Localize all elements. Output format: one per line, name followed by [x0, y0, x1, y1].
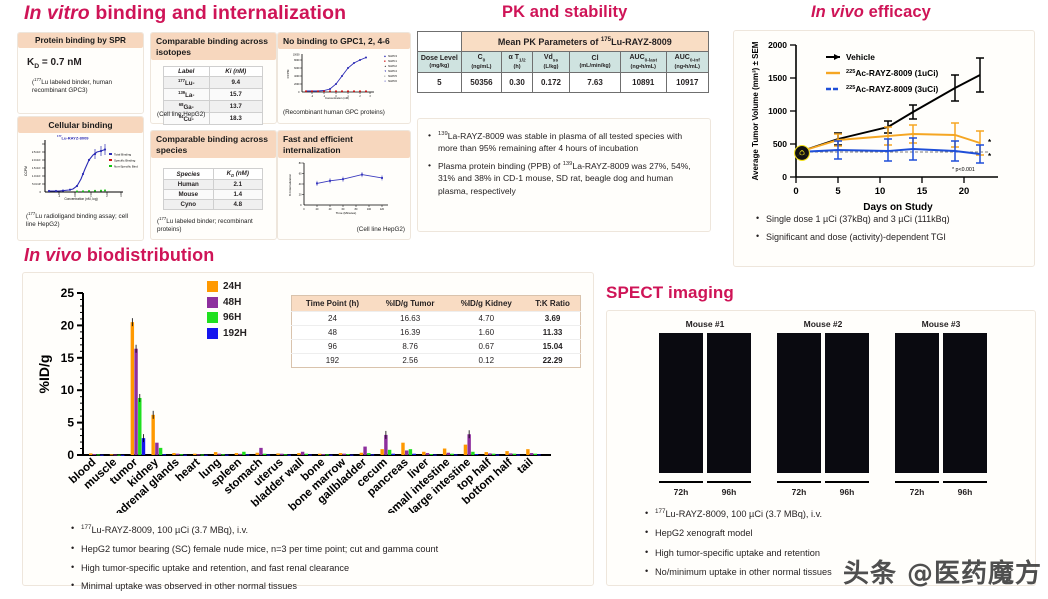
- internalization-chart: % Internalization Time (Minutes) 02040 6…: [284, 159, 404, 221]
- section-title-biodistribution: In vivo biodistribution: [24, 245, 214, 266]
- isotope-ki: 9.4: [209, 77, 262, 89]
- table-row: 4816.391.6011.33: [292, 326, 581, 340]
- pk-table: Mean PK Parameters of 175Lu-RAYZ-8009 Do…: [417, 31, 709, 93]
- list-item: High tumor-specific uptake and retention…: [81, 562, 601, 576]
- gpc-caption: (Recombinant human GPC proteins): [283, 109, 385, 117]
- spect-mouse-3-label: Mouse #3: [891, 319, 991, 329]
- list-item: HepG2 tumor bearing (SC) female nude mic…: [81, 543, 601, 557]
- pk-data-row: 5 50356 0.30 0.172 7.63 10891 10917: [418, 73, 709, 93]
- biodist-cell: 48: [292, 326, 373, 340]
- pk-col-vdss: Vdss(L/kg): [532, 52, 569, 73]
- svg-text:20: 20: [299, 194, 302, 197]
- svg-text:heart: heart: [174, 456, 203, 484]
- spect-time-m2-96h: 96h: [825, 487, 869, 497]
- cellular-binding-heading: Cellular binding: [18, 117, 143, 133]
- spect-rule-m3-96h: [943, 481, 987, 483]
- svg-text:0: 0: [40, 190, 42, 194]
- svg-text:20: 20: [61, 318, 75, 332]
- svg-text:CCPM: CCPM: [286, 69, 290, 78]
- spect-mouse-1-label: Mouse #1: [655, 319, 755, 329]
- svg-text:20: 20: [959, 186, 970, 197]
- spect-time-m3-72h: 72h: [895, 487, 939, 497]
- svg-text:10000: 10000: [293, 54, 300, 57]
- biodist-cell: 2.56: [373, 354, 447, 368]
- svg-text:■: ■: [384, 60, 386, 63]
- svg-text:Average Tumor Volume (mm³) ± S: Average Tumor Volume (mm³) ± SEM: [751, 41, 760, 180]
- pk-col-auclast: AUC0-last(ng•h/mL): [620, 52, 666, 73]
- svg-text:8000: 8000: [294, 59, 300, 62]
- svg-text:0: 0: [300, 204, 302, 207]
- biodist-cell: 8.76: [373, 340, 447, 354]
- watermark: 头条 @医药魔方: [843, 553, 1042, 590]
- biodist-table: Time Point (h) %ID/g Tumor %ID/g Kidney …: [291, 295, 581, 368]
- svg-text:6000: 6000: [294, 67, 300, 70]
- panel-isotopes: Comparable binding across isotopes Label…: [150, 32, 277, 124]
- isotopes-col-ki: Ki (nM): [209, 67, 262, 77]
- svg-text:15: 15: [917, 186, 928, 197]
- spect-rule-m3-72h: [895, 481, 939, 483]
- pk-val-cl: 7.63: [570, 73, 621, 93]
- svg-text:1500: 1500: [768, 73, 787, 83]
- panel-spect: Mouse #1 72h 96h Mouse #2 72h 96h Mouse …: [606, 310, 1036, 586]
- svg-text:1000: 1000: [768, 106, 787, 116]
- svg-text:% Internalization: % Internalization: [288, 174, 292, 197]
- biodist-cell: 11.33: [525, 326, 580, 340]
- svg-text:100: 100: [367, 208, 372, 211]
- svg-text:3: 3: [369, 95, 371, 98]
- section-title-pk: PK and stability: [502, 3, 627, 22]
- svg-text:225Ac-RAYZ-8009 (1uCi): 225Ac-RAYZ-8009 (1uCi): [846, 68, 939, 78]
- biodist-cell: 16.63: [373, 312, 447, 326]
- spect-rule-m2-96h: [825, 481, 869, 483]
- svg-text:Concentration (nM): Concentration (nM): [325, 96, 349, 100]
- section-title-in-vivo-efficacy: In vivo efficacy: [811, 3, 931, 22]
- biodist-cell: 1.60: [447, 326, 525, 340]
- svg-text:5: 5: [67, 416, 74, 430]
- svg-text:hGPC1: hGPC1: [388, 59, 397, 63]
- svg-text:1: 1: [347, 95, 349, 98]
- section-title-efficacy-rest: efficacy: [864, 3, 931, 21]
- biodist-col-kidney: %ID/g Kidney: [447, 296, 525, 312]
- svg-text:1.5×10⁴: 1.5×10⁴: [32, 166, 41, 170]
- section-title-efficacy-italic: In vivo: [811, 3, 864, 21]
- panel-biodistribution: 24H 48H 96H 192H 0510152025%ID/gbloodmus…: [22, 272, 594, 586]
- svg-text:*: *: [988, 138, 992, 147]
- pk-col-c0: C0(ng/mL): [461, 52, 502, 73]
- list-item: Minimal uptake was observed in other nor…: [81, 580, 601, 594]
- biodist-col-tk: T:K Ratio: [525, 296, 580, 312]
- section-title-in-vitro-italic: In vitro: [24, 2, 90, 24]
- species-name: Cyno: [164, 200, 214, 210]
- spect-mouse-2-label: Mouse #2: [773, 319, 873, 329]
- section-title-in-vitro: In vitro binding and internalization: [24, 2, 346, 25]
- biodist-cell: 22.29: [525, 354, 580, 368]
- svg-text:2: 2: [106, 194, 108, 198]
- svg-text:2000: 2000: [768, 40, 787, 50]
- spect-image-m3-72h: [895, 333, 939, 473]
- svg-text:●: ●: [384, 75, 386, 78]
- svg-text:Vehicle: Vehicle: [846, 52, 875, 62]
- table-row: Cyno4.8: [164, 200, 263, 210]
- svg-text:0: 0: [782, 172, 787, 182]
- svg-text:5: 5: [835, 186, 841, 197]
- poster-root: In vitro binding and internalization Pro…: [0, 0, 1048, 596]
- svg-text:0: 0: [298, 91, 300, 94]
- internalization-heading: Fast and efficient internalization: [278, 131, 410, 158]
- panel-internalization: Fast and efficient internalization: [277, 130, 411, 240]
- svg-text:◆: ◆: [384, 55, 387, 58]
- table-row: 177Lu-9.4: [164, 77, 263, 89]
- spr-caption: (177Lu labeled binder, human recombinant…: [32, 77, 137, 95]
- isotope-ki: 18.3: [209, 113, 262, 125]
- svg-text:Concentration (nM, log): Concentration (nM, log): [64, 197, 97, 201]
- spect-time-m3-96h: 96h: [943, 487, 987, 497]
- efficacy-chart: 05001000 15002000 0510 1520 Days on Stud…: [740, 35, 1028, 213]
- list-item: 177Lu-RAYZ-8009, 100 µCi (3.7 MBq), i.v.: [81, 523, 601, 538]
- pk-title: Mean PK Parameters of 175Lu-RAYZ-8009: [461, 32, 708, 52]
- svg-text:CCPM: CCPM: [24, 166, 28, 176]
- gpc-heading: No binding to GPC1, 2, 4-6: [278, 33, 410, 49]
- panel-pk-bullets: 139La-RAYZ-8009 was stable in plasma of …: [417, 118, 711, 232]
- svg-text:-2: -2: [311, 95, 314, 98]
- svg-text:2: 2: [359, 95, 361, 98]
- spr-kd-value: KD = 0.7 nM: [27, 57, 82, 70]
- table-row: 139La-15.7: [164, 89, 263, 101]
- svg-text:1.0×10⁴: 1.0×10⁴: [32, 174, 41, 178]
- svg-text:*: *: [988, 152, 992, 161]
- spect-image-m1-96h: [707, 333, 751, 473]
- svg-text:hGPC2: hGPC2: [388, 64, 397, 68]
- svg-text:10: 10: [875, 186, 886, 197]
- section-title-in-vitro-rest: binding and internalization: [90, 2, 346, 24]
- svg-text:25: 25: [61, 286, 75, 300]
- biodist-cell: 3.69: [525, 312, 580, 326]
- svg-text:hGPC3: hGPC3: [388, 54, 397, 58]
- panel-protein-binding-spr: Protein binding by SPR KD = 0.7 nM (177L…: [17, 32, 144, 114]
- spect-rule-m2-72h: [777, 481, 821, 483]
- pk-val-thalf: 0.30: [502, 73, 533, 93]
- cellular-binding-svg: CCPM Concentration (nM, log) 05.0×10³1.0…: [23, 135, 138, 207]
- internalization-caption: (Cell line HepG2): [357, 226, 405, 234]
- svg-text:hGPC5: hGPC5: [388, 74, 397, 78]
- gpc-chart-svg: CCPM Concentration (nM) 020004000 600080…: [282, 50, 406, 105]
- svg-text:▼: ▼: [384, 70, 387, 73]
- efficacy-legend: Vehicle 225Ac-RAYZ-8009 (1uCi) 225Ac-RAY…: [826, 52, 939, 94]
- svg-text:3: 3: [120, 194, 122, 198]
- species-table: Species KD (nM) Human2.1 Mouse1.4 Cyno4.…: [163, 168, 263, 210]
- internalization-chart-svg: % Internalization Time (Minutes) 02040 6…: [284, 159, 404, 221]
- svg-text:5.0×10³: 5.0×10³: [32, 182, 41, 186]
- panel-gpc-selectivity: No binding to GPC1, 2, 4-6: [277, 32, 411, 124]
- table-row: Human2.1: [164, 180, 263, 190]
- svg-text:2000: 2000: [294, 83, 300, 86]
- spr-heading: Protein binding by SPR: [18, 33, 143, 48]
- pk-val-c0: 50356: [461, 73, 502, 93]
- spect-image-m2-96h: [825, 333, 869, 473]
- svg-text:✦: ✦: [384, 79, 387, 83]
- gpc-chart: CCPM Concentration (nM) 020004000 600080…: [282, 50, 406, 105]
- svg-text:▲: ▲: [384, 65, 387, 68]
- section-title-biodist-rest: biodistribution: [82, 245, 215, 265]
- spect-image-m3-96h: [943, 333, 987, 473]
- table-row: 1922.560.1222.29: [292, 354, 581, 368]
- biodist-cell: 24: [292, 312, 373, 326]
- species-col-species: Species: [164, 169, 214, 180]
- spect-rule-m1-96h: [707, 481, 751, 483]
- isotope-ki: 13.7: [209, 101, 262, 113]
- biodist-cell: 192: [292, 354, 373, 368]
- svg-text:hGPC4: hGPC4: [388, 69, 397, 73]
- svg-text:0: 0: [303, 208, 305, 211]
- spect-image-m1-72h: [659, 333, 703, 473]
- svg-text:Specific Binding: Specific Binding: [114, 159, 136, 163]
- section-title-spect: SPECT imaging: [606, 283, 734, 303]
- isotopes-heading: Comparable binding across isotopes: [151, 33, 276, 60]
- pk-val-aucinf: 10917: [666, 73, 708, 93]
- svg-text:15: 15: [61, 351, 75, 365]
- pk-col-dose: Dose Level(mg/kg): [418, 52, 462, 73]
- biodist-cell: 16.39: [373, 326, 447, 340]
- isotopes-caption: (Cell line HepG2): [157, 111, 205, 119]
- section-title-biodist-italic: In vivo: [24, 245, 82, 265]
- panel-species: Comparable binding across species Specie…: [150, 130, 277, 240]
- spect-time-m1-96h: 96h: [707, 487, 751, 497]
- svg-text:-1: -1: [58, 194, 61, 198]
- svg-text:Days on Study: Days on Study: [863, 202, 933, 213]
- biodist-cell: 0.12: [447, 354, 525, 368]
- species-name: Mouse: [164, 190, 214, 200]
- biodist-col-time: Time Point (h): [292, 296, 373, 312]
- spect-time-m2-72h: 72h: [777, 487, 821, 497]
- pk-val-auclast: 10891: [620, 73, 666, 93]
- cellular-binding-caption: (177Lu radioligand binding assay; cell l…: [26, 211, 138, 229]
- table-row: 2416.634.703.69: [292, 312, 581, 326]
- list-item: Significant and dose (activity)-dependen…: [766, 231, 1044, 244]
- svg-text:20: 20: [316, 208, 319, 211]
- efficacy-chart-svg: 05001000 15002000 0510 1520 Days on Stud…: [740, 35, 1028, 213]
- svg-text:80: 80: [299, 162, 302, 165]
- species-caption: (177Lu labeled binder; recombinant prote…: [157, 216, 272, 234]
- svg-text:40: 40: [329, 208, 332, 211]
- spect-time-m1-72h: 72h: [659, 487, 703, 497]
- cellular-binding-chart: 177Lu-RAYZ-8009: [23, 135, 138, 207]
- svg-text:2.0×10⁴: 2.0×10⁴: [32, 158, 41, 162]
- isotope-label: 177Lu-: [164, 77, 210, 89]
- panel-efficacy: 05001000 15002000 0510 1520 Days on Stud…: [733, 30, 1035, 267]
- species-name: Human: [164, 180, 214, 190]
- svg-text:* p<0.001: * p<0.001: [952, 167, 975, 173]
- panel-cellular-binding: Cellular binding 177Lu-RAYZ-8009: [17, 116, 144, 241]
- pk-val-dose: 5: [418, 73, 462, 93]
- spect-rule-m1-72h: [659, 481, 703, 483]
- svg-text:60: 60: [299, 173, 302, 176]
- svg-text:2.5×10⁴: 2.5×10⁴: [32, 150, 41, 154]
- species-kd: 4.8: [213, 200, 263, 210]
- svg-text:hGPC6: hGPC6: [388, 79, 397, 83]
- list-item: HepG2 xenograft model: [655, 526, 1035, 540]
- biodist-cell: 0.67: [447, 340, 525, 354]
- pk-bullet-list: 139La-RAYZ-8009 was stable in plasma of …: [418, 130, 710, 197]
- table-row: Mouse1.4: [164, 190, 263, 200]
- list-item: 177Lu-RAYZ-8009, 100 µCi (3.7 MBq), i.v.: [655, 507, 1035, 521]
- pk-corner-cell: [418, 32, 462, 52]
- pk-val-vdss: 0.172: [532, 73, 569, 93]
- svg-text:4000: 4000: [294, 75, 300, 78]
- biodist-col-tumor: %ID/g Tumor: [373, 296, 447, 312]
- radiation-icon: [794, 145, 810, 161]
- species-heading: Comparable binding across species: [151, 131, 276, 158]
- svg-text:%ID/g: %ID/g: [36, 355, 52, 394]
- isotope-label: 139La-: [164, 89, 210, 101]
- isotope-ki: 15.7: [209, 89, 262, 101]
- svg-text:Total Binding: Total Binding: [114, 153, 132, 157]
- list-item: Plasma protein binding (PPB) of 139La-RA…: [438, 160, 702, 197]
- species-kd: 1.4: [213, 190, 263, 200]
- svg-text:0: 0: [67, 448, 74, 462]
- svg-text:80: 80: [355, 208, 358, 211]
- spect-image-grid: Mouse #1 72h 96h Mouse #2 72h 96h Mouse …: [607, 311, 1035, 511]
- svg-text:120: 120: [380, 208, 385, 211]
- list-item: 139La-RAYZ-8009 was stable in plasma of …: [438, 130, 702, 155]
- svg-text:Time (Minutes): Time (Minutes): [336, 211, 357, 215]
- pk-col-aucinf: AUC0-inf(ng•h/mL): [666, 52, 708, 73]
- svg-text:500: 500: [773, 139, 787, 149]
- biodist-bullet-list: 177Lu-RAYZ-8009, 100 µCi (3.7 MBq), i.v.…: [63, 523, 601, 599]
- svg-text:Non-Specific Binding: Non-Specific Binding: [114, 165, 138, 169]
- biodist-cell: 4.70: [447, 312, 525, 326]
- svg-text:40: 40: [299, 183, 302, 186]
- spect-image-m2-72h: [777, 333, 821, 473]
- cellular-chart-title: 177Lu-RAYZ-8009: [57, 135, 89, 140]
- pk-col-cl: Cl(mL/min/kg): [570, 52, 621, 73]
- biodist-cell: 96: [292, 340, 373, 354]
- isotopes-col-label: Label: [164, 67, 210, 77]
- svg-text:0: 0: [793, 186, 798, 197]
- efficacy-bullet-list: Single dose 1 µCi (37kBq) and 3 µCi (111…: [748, 213, 1044, 249]
- pk-col-thalf: α T1/2(h): [502, 52, 533, 73]
- svg-text:225Ac-RAYZ-8009 (3uCi): 225Ac-RAYZ-8009 (3uCi): [846, 84, 939, 94]
- list-item: Single dose 1 µCi (37kBq) and 3 µCi (111…: [766, 213, 1044, 226]
- species-kd: 2.1: [213, 180, 263, 190]
- species-col-kd: KD (nM): [213, 169, 263, 180]
- biodist-cell: 15.04: [525, 340, 580, 354]
- table-row: 968.760.6715.04: [292, 340, 581, 354]
- svg-text:10: 10: [61, 383, 75, 397]
- svg-text:tail: tail: [515, 456, 535, 476]
